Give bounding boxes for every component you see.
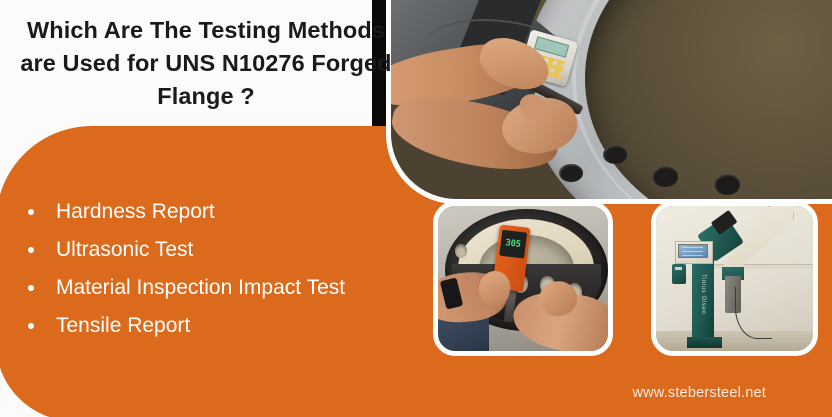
website-url[interactable]: www.stebersteel.net [632, 385, 766, 401]
lab-floor [656, 331, 813, 351]
hardness-testing-on-forged-flange-photo [386, 0, 832, 204]
display-readout-lines [682, 246, 703, 256]
infographic-banner: 305 Tinius Olsen [0, 0, 832, 417]
gauge-display: 305 [499, 230, 527, 258]
control-box-indicator [675, 267, 682, 270]
list-item-label: Tensile Report [56, 314, 190, 337]
flange-lip-highlight [572, 0, 832, 199]
impact-testing-machine-photo: Tinius Olsen [651, 201, 818, 356]
ultrasonic-thickness-gauge-photo: 305 [433, 201, 613, 356]
testing-methods-list: Hardness Report Ultrasonic Test Material… [22, 197, 422, 349]
list-item-label: Material Inspection Impact Test [56, 276, 345, 299]
list-item: Material Inspection Impact Test [22, 273, 422, 311]
bullet-dot-icon [28, 323, 34, 329]
page-title: Which Are The Testing Methods are Used f… [8, 14, 404, 113]
bolt-hole [603, 145, 627, 164]
bolt-hole [455, 244, 467, 259]
bolt-hole [714, 174, 741, 195]
bullet-dot-icon [28, 285, 34, 291]
gauge-reading-value: 305 [505, 238, 521, 250]
bolt-hole [652, 166, 679, 187]
list-item-label: Ultrasonic Test [56, 238, 193, 261]
list-item: Ultrasonic Test [22, 235, 422, 273]
list-item: Hardness Report [22, 197, 422, 235]
list-item: Tensile Report [22, 311, 422, 349]
machine-control-box [672, 264, 686, 284]
bullet-dot-icon [28, 247, 34, 253]
machine-display-screen [678, 244, 708, 259]
machine-base [687, 337, 722, 349]
list-item-label: Hardness Report [56, 200, 215, 223]
bullet-dot-icon [28, 209, 34, 215]
wall-rail [703, 264, 813, 269]
